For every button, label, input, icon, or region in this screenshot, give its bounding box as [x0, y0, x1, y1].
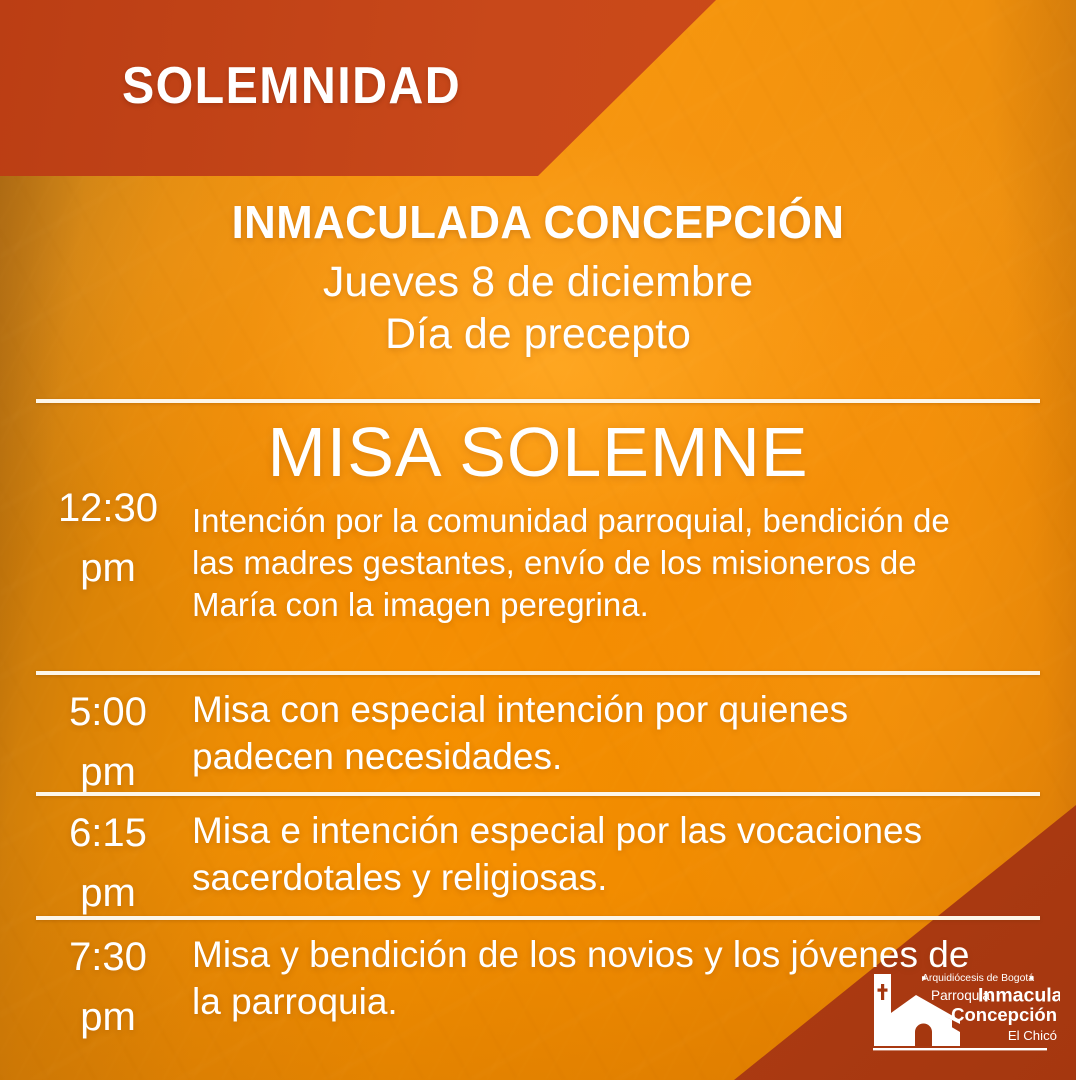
divider-row-2: [36, 792, 1040, 796]
title-note: Día de precepto: [0, 308, 1076, 360]
schedule-row: 6:15 pm Misa e intención especial por la…: [24, 803, 1044, 923]
schedule-time-hour: 5:00: [24, 682, 192, 742]
divider-row-3: [36, 916, 1040, 920]
schedule-description: Misa e intención especial por las vocaci…: [192, 803, 992, 902]
page-title: INMACULADA CONCEPCIÓN: [27, 198, 1049, 248]
divider-top: [36, 399, 1040, 403]
schedule-time-hour: 6:15: [24, 803, 192, 863]
parish-logo: Arquidiócesis de Bogotá Parroquia Inmacu…: [860, 962, 1060, 1062]
logo-concepcion: Concepción: [951, 1004, 1057, 1025]
banner-kicker: SOLEMNIDAD: [122, 56, 461, 116]
title-block: INMACULADA CONCEPCIÓN Jueves 8 de diciem…: [0, 198, 1076, 361]
schedule-time-hour: 12:30: [24, 478, 192, 538]
schedule-time: 5:00 pm: [24, 682, 192, 802]
schedule-description: Misa con especial intención por quienes …: [192, 682, 992, 781]
schedule-row: 12:30 pm Intención por la comunidad parr…: [24, 478, 1044, 627]
divider-row-1: [36, 671, 1040, 675]
schedule-time: 12:30 pm: [24, 478, 192, 598]
logo-el-chico: El Chicó: [1008, 1028, 1057, 1043]
title-date: Jueves 8 de diciembre: [0, 256, 1076, 308]
schedule-time: 6:15 pm: [24, 803, 192, 923]
schedule-time-period: pm: [24, 987, 192, 1047]
schedule-time-hour: 7:30: [24, 927, 192, 987]
schedule-description: Intención por la comunidad parroquial, b…: [192, 478, 982, 627]
poster-canvas: SOLEMNIDAD INMACULADA CONCEPCIÓN Jueves …: [0, 0, 1076, 1080]
schedule-time: 7:30 pm: [24, 927, 192, 1047]
logo-diocese: Arquidiócesis de Bogotá: [922, 973, 1034, 984]
schedule-row: 5:00 pm Misa con especial intención por …: [24, 682, 1044, 802]
schedule-time-period: pm: [24, 863, 192, 923]
schedule-time-period: pm: [24, 538, 192, 598]
